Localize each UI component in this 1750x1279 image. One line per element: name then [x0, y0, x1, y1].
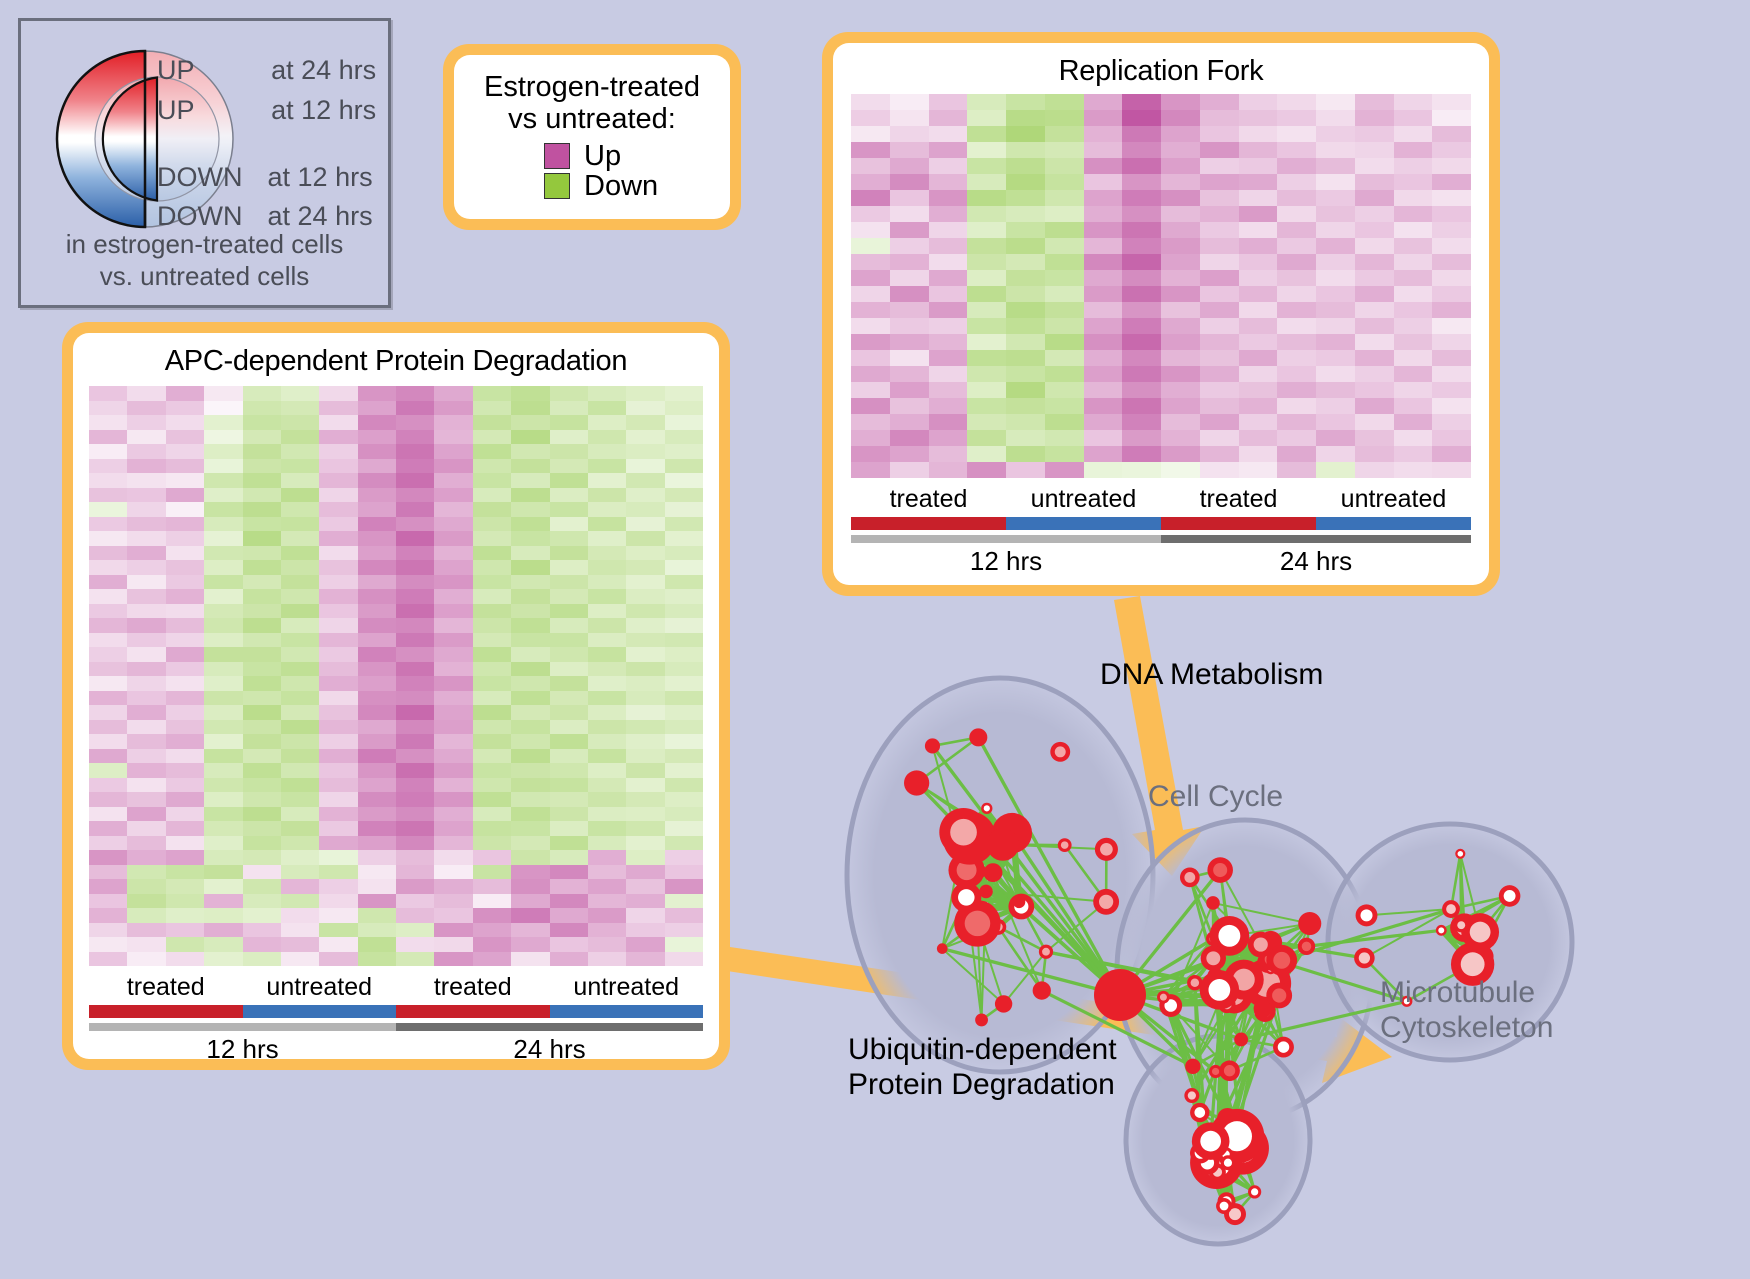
- apc-condition-bar-untreated-12: [243, 1005, 397, 1018]
- heatmap-cell: [588, 415, 626, 430]
- heatmap-cell: [434, 937, 472, 952]
- heatmap-cell: [1394, 238, 1433, 254]
- heatmap-cell: [588, 691, 626, 706]
- network-node[interactable]: [1200, 970, 1239, 1009]
- heatmap-cell: [1045, 206, 1084, 222]
- heatmap-cell: [550, 821, 588, 836]
- heatmap-cell: [929, 366, 968, 382]
- heatmap-cell: [319, 662, 357, 677]
- heatmap-cell: [89, 662, 127, 677]
- heatmap-cell: [243, 415, 281, 430]
- heatmap-cell: [1161, 206, 1200, 222]
- heatmap-cell: [166, 850, 204, 865]
- network-node[interactable]: [981, 803, 992, 814]
- heatmap-cell: [281, 430, 319, 445]
- heatmap-cell: [626, 386, 664, 401]
- heatmap-cell: [281, 618, 319, 633]
- heatmap-cell: [665, 836, 703, 851]
- heatmap-cell: [358, 705, 396, 720]
- network-node[interactable]: [1013, 896, 1025, 908]
- heatmap-cell: [626, 908, 664, 923]
- heatmap-cell: [166, 662, 204, 677]
- heatmap-cell: [1239, 350, 1278, 366]
- network-node[interactable]: [1499, 885, 1521, 907]
- network-node[interactable]: [1234, 1033, 1248, 1047]
- heatmap-cell: [396, 749, 434, 764]
- condition-label-0: treated: [851, 485, 1006, 514]
- heatmap-cell: [1200, 382, 1239, 398]
- heatmap-cell: [1006, 190, 1045, 206]
- network-node[interactable]: [969, 728, 987, 746]
- heatmap-cell: [588, 705, 626, 720]
- heatmap-cell: [1316, 174, 1355, 190]
- heatmap-cell: [127, 430, 165, 445]
- key-dir-down-12: DOWN: [157, 162, 242, 192]
- legend-item-down: Down: [544, 172, 718, 201]
- heatmap-cell: [626, 778, 664, 793]
- heatmap-cell: [967, 206, 1006, 222]
- figure-canvas: UP at 24 hrs UP at 12 hrs DOWN at 12 hrs…: [0, 0, 1750, 1279]
- heatmap-cell: [1200, 206, 1239, 222]
- heatmap-cell: [1045, 222, 1084, 238]
- heatmap-cell: [588, 923, 626, 938]
- heatmap-cell: [1045, 366, 1084, 382]
- network-node[interactable]: [1033, 981, 1051, 999]
- heatmap-cell: [1200, 286, 1239, 302]
- heatmap-cell: [473, 473, 511, 488]
- node-inner-fill: [1042, 948, 1050, 956]
- network-node[interactable]: [1248, 1185, 1261, 1198]
- heatmap-cell: [434, 836, 472, 851]
- node-outer-ring: [925, 738, 940, 753]
- heatmap-cell: [1394, 270, 1433, 286]
- heatmap-cell: [204, 473, 242, 488]
- heatmap-cell: [1394, 414, 1433, 430]
- heatmap-cell: [473, 734, 511, 749]
- heatmap-cell: [396, 952, 434, 967]
- network-node[interactable]: [1273, 1037, 1294, 1058]
- heatmap-cell: [1316, 190, 1355, 206]
- replication-fork-condition-bar: [851, 517, 1471, 530]
- heatmap-cell: [204, 705, 242, 720]
- heatmap-cell: [89, 488, 127, 503]
- network-node[interactable]: [1185, 1059, 1200, 1074]
- node-outer-ring: [1206, 896, 1220, 910]
- heatmap-cell: [89, 386, 127, 401]
- heatmap-cell: [851, 110, 890, 126]
- heatmap-cell: [319, 560, 357, 575]
- heatmap-cell: [1316, 110, 1355, 126]
- heatmap-cell: [665, 502, 703, 517]
- heatmap-cell: [1045, 158, 1084, 174]
- heatmap-cell: [1084, 174, 1123, 190]
- heatmap-cell: [1355, 254, 1394, 270]
- heatmap-cell: [1161, 158, 1200, 174]
- heatmap-cell: [434, 923, 472, 938]
- down-swatch-icon: [544, 173, 570, 199]
- heatmap-cell: [665, 589, 703, 604]
- heatmap-cell: [396, 473, 434, 488]
- heatmap-cell: [511, 662, 549, 677]
- heatmap-cell: [890, 446, 929, 462]
- heatmap-cell: [1239, 302, 1278, 318]
- heatmap-cell: [1122, 286, 1161, 302]
- heatmap-cell: [626, 937, 664, 952]
- heatmap-cell: [1006, 366, 1045, 382]
- heatmap-cell: [890, 158, 929, 174]
- heatmap-cell: [1045, 110, 1084, 126]
- heatmap-cell: [243, 705, 281, 720]
- heatmap-cell: [204, 734, 242, 749]
- network-node[interactable]: [1192, 1122, 1230, 1160]
- heatmap-cell: [243, 589, 281, 604]
- heatmap-cell: [396, 792, 434, 807]
- heatmap-cell: [550, 836, 588, 851]
- node-outer-ring: [1234, 1033, 1248, 1047]
- heatmap-cell: [1045, 318, 1084, 334]
- heatmap-cell: [929, 286, 968, 302]
- heatmap-cell: [396, 546, 434, 561]
- heatmap-cell: [1432, 190, 1471, 206]
- heatmap-cell: [1161, 302, 1200, 318]
- heatmap-cell: [550, 908, 588, 923]
- heatmap-cell: [967, 174, 1006, 190]
- key-row-up-12: UP at 12 hrs: [157, 95, 376, 126]
- heatmap-cell: [626, 952, 664, 967]
- key-dir-down-24: DOWN: [157, 201, 242, 231]
- heatmap-cell: [204, 633, 242, 648]
- heatmap-cell: [1277, 382, 1316, 398]
- heatmap-cell: [511, 589, 549, 604]
- heatmap-cell: [89, 952, 127, 967]
- heatmap-cell: [434, 778, 472, 793]
- heatmap-cell: [1432, 286, 1471, 302]
- heatmap-cell: [588, 517, 626, 532]
- heatmap-cell: [1394, 142, 1433, 158]
- heatmap-cell: [281, 923, 319, 938]
- heatmap-cell: [319, 473, 357, 488]
- heatmap-cell: [243, 560, 281, 575]
- heatmap-cell: [665, 850, 703, 865]
- heatmap-cell: [204, 459, 242, 474]
- heatmap-cell: [127, 575, 165, 590]
- heatmap-cell: [1432, 382, 1471, 398]
- network-node[interactable]: [1093, 889, 1119, 915]
- heatmap-cell: [434, 952, 472, 967]
- heatmap-cell: [281, 473, 319, 488]
- network-node[interactable]: [984, 863, 1003, 882]
- heatmap-cell: [434, 386, 472, 401]
- heatmap-cell: [511, 937, 549, 952]
- network-node[interactable]: [925, 738, 940, 753]
- heatmap-cell: [434, 560, 472, 575]
- network-node[interactable]: [1356, 904, 1378, 926]
- heatmap-cell: [358, 473, 396, 488]
- heatmap-cell: [1006, 398, 1045, 414]
- heatmap-cell: [1355, 446, 1394, 462]
- heatmap-cell: [319, 778, 357, 793]
- heatmap-cell: [1277, 110, 1316, 126]
- heatmap-cell: [1316, 238, 1355, 254]
- heatmap-cell: [166, 937, 204, 952]
- heatmap-cell: [166, 734, 204, 749]
- network-node[interactable]: [995, 995, 1012, 1012]
- heatmap-cell: [929, 222, 968, 238]
- node-outer-ring: [975, 1013, 988, 1026]
- heatmap-cell: [166, 894, 204, 909]
- heatmap-cell: [1239, 174, 1278, 190]
- heatmap-cell: [281, 807, 319, 822]
- heatmap-cell: [473, 850, 511, 865]
- heatmap-cell: [396, 560, 434, 575]
- network-node[interactable]: [1206, 896, 1220, 910]
- heatmap-cell: [665, 865, 703, 880]
- heatmap-cell: [1316, 286, 1355, 302]
- heatmap-cell: [127, 850, 165, 865]
- heatmap-cell: [243, 865, 281, 880]
- heatmap-cell: [358, 879, 396, 894]
- heatmap-cell: [89, 734, 127, 749]
- heatmap-cell: [204, 720, 242, 735]
- heatmap-cell: [1200, 414, 1239, 430]
- heatmap-cell: [1355, 318, 1394, 334]
- heatmap-cell: [890, 318, 929, 334]
- heatmap-cell: [511, 894, 549, 909]
- heatmap-cell: [626, 401, 664, 416]
- heatmap-cell: [166, 923, 204, 938]
- heatmap-cell: [1277, 238, 1316, 254]
- heatmap-cell: [1122, 446, 1161, 462]
- heatmap-cell: [1239, 366, 1278, 382]
- heatmap-cell: [665, 517, 703, 532]
- network-node[interactable]: [939, 808, 987, 856]
- heatmap-cell: [1084, 430, 1123, 446]
- heatmap-cell: [204, 792, 242, 807]
- heatmap-cell: [243, 807, 281, 822]
- network-node[interactable]: [1207, 857, 1233, 883]
- heatmap-cell: [127, 473, 165, 488]
- node-outer-ring: [904, 770, 929, 795]
- heatmap-cell: [319, 952, 357, 967]
- heatmap-cell: [473, 546, 511, 561]
- heatmap-cell: [1432, 238, 1471, 254]
- heatmap-cell: [1161, 430, 1200, 446]
- heatmap-cell: [358, 386, 396, 401]
- heatmap-cell: [1200, 174, 1239, 190]
- heatmap-cell: [166, 879, 204, 894]
- heatmap-cell: [127, 546, 165, 561]
- apc-degradation-panel: APC-dependent Protein Degradation treate…: [62, 322, 730, 1070]
- network-node[interactable]: [1298, 912, 1321, 935]
- heatmap-cell: [358, 952, 396, 967]
- heatmap-cell: [626, 734, 664, 749]
- network-node[interactable]: [904, 770, 929, 795]
- network-node[interactable]: [1354, 948, 1375, 969]
- network-node[interactable]: [937, 943, 948, 954]
- heatmap-cell: [434, 807, 472, 822]
- heatmap-cell: [166, 763, 204, 778]
- heatmap-cell: [319, 908, 357, 923]
- heatmap-cell: [166, 473, 204, 488]
- heatmap-cell: [1161, 414, 1200, 430]
- heatmap-cell: [1316, 206, 1355, 222]
- network-node[interactable]: [1455, 849, 1465, 859]
- heatmap-cell: [1316, 430, 1355, 446]
- network-node[interactable]: [1298, 938, 1315, 955]
- heatmap-cell: [358, 908, 396, 923]
- heatmap-cell: [588, 401, 626, 416]
- network-node[interactable]: [1190, 1103, 1209, 1122]
- heatmap-cell: [1355, 382, 1394, 398]
- heatmap-cell: [1122, 222, 1161, 238]
- heatmap-cell: [511, 575, 549, 590]
- heatmap-cell: [967, 270, 1006, 286]
- heatmap-cell: [243, 749, 281, 764]
- network-node[interactable]: [1436, 925, 1447, 936]
- network-node[interactable]: [1094, 969, 1146, 1021]
- network-node[interactable]: [951, 882, 981, 912]
- heatmap-cell: [396, 662, 434, 677]
- heatmap-cell: [967, 190, 1006, 206]
- heatmap-cell: [89, 633, 127, 648]
- heatmap-cell: [511, 676, 549, 691]
- heatmap-cell: [1122, 350, 1161, 366]
- heatmap-cell: [511, 952, 549, 967]
- network-node[interactable]: [1266, 983, 1292, 1009]
- heatmap-cell: [89, 705, 127, 720]
- heatmap-cell: [1161, 110, 1200, 126]
- heatmap-cell: [473, 908, 511, 923]
- heatmap-cell: [1277, 158, 1316, 174]
- node-inner-fill: [1191, 978, 1200, 987]
- heatmap-cell: [243, 401, 281, 416]
- heatmap-cell: [434, 865, 472, 880]
- heatmap-cell: [967, 414, 1006, 430]
- heatmap-cell: [511, 792, 549, 807]
- network-node[interactable]: [987, 828, 1020, 861]
- network-node[interactable]: [1248, 932, 1274, 958]
- heatmap-cell: [358, 604, 396, 619]
- heatmap-cell: [281, 836, 319, 851]
- heatmap-cell: [851, 206, 890, 222]
- heatmap-cell: [281, 763, 319, 778]
- network-node[interactable]: [1180, 868, 1200, 888]
- network-node[interactable]: [1461, 913, 1499, 951]
- heatmap-cell: [204, 662, 242, 677]
- heatmap-cell: [890, 174, 929, 190]
- heatmap-cell: [1316, 350, 1355, 366]
- heatmap-cell: [204, 923, 242, 938]
- network-node[interactable]: [1442, 900, 1460, 918]
- heatmap-cell: [626, 647, 664, 662]
- network-node[interactable]: [1095, 838, 1118, 861]
- heatmap-cell: [434, 488, 472, 503]
- time-label-12hrs: 12 hrs: [851, 546, 1161, 577]
- heatmap-cell: [1355, 190, 1394, 206]
- heatmap-cell: [665, 430, 703, 445]
- heatmap-cell: [473, 807, 511, 822]
- heatmap-cell: [1045, 302, 1084, 318]
- replication-fork-time-labels: 12 hrs 24 hrs: [851, 546, 1471, 577]
- network-node[interactable]: [1201, 946, 1226, 971]
- network-node[interactable]: [1184, 1088, 1199, 1103]
- heatmap-cell: [243, 604, 281, 619]
- heatmap-cell: [967, 462, 1006, 478]
- heatmap-cell: [550, 415, 588, 430]
- heatmap-cell: [358, 415, 396, 430]
- heatmap-cell: [204, 430, 242, 445]
- heatmap-cell: [1277, 462, 1316, 478]
- heatmap-cell: [626, 517, 664, 532]
- heatmap-cell: [1355, 414, 1394, 430]
- network-node[interactable]: [1050, 742, 1070, 762]
- apc-time-bar-24hrs: [396, 1023, 703, 1031]
- node-outer-ring: [1298, 912, 1321, 935]
- heatmap-cell: [204, 821, 242, 836]
- network-node[interactable]: [1454, 918, 1468, 932]
- heatmap-cell: [890, 414, 929, 430]
- network-node[interactable]: [975, 1013, 988, 1026]
- heatmap-cell: [1277, 318, 1316, 334]
- heatmap-cell: [550, 676, 588, 691]
- heatmap-cell: [967, 142, 1006, 158]
- heatmap-cell: [434, 662, 472, 677]
- heatmap-cell: [1239, 334, 1278, 350]
- heatmap-cell: [473, 488, 511, 503]
- network-node[interactable]: [1058, 838, 1072, 852]
- heatmap-cell: [473, 459, 511, 474]
- heatmap-cell: [588, 807, 626, 822]
- heatmap-cell: [204, 865, 242, 880]
- network-node[interactable]: [1039, 945, 1053, 959]
- heatmap-cell: [588, 749, 626, 764]
- apc-time-bar-12hrs: [89, 1023, 396, 1031]
- heatmap-cell: [1277, 414, 1316, 430]
- heatmap-cell: [204, 488, 242, 503]
- heatmap-cell: [588, 546, 626, 561]
- heatmap-cell: [1239, 446, 1278, 462]
- network-node[interactable]: [1157, 991, 1170, 1004]
- heatmap-cell: [358, 401, 396, 416]
- heatmap-cell: [204, 531, 242, 546]
- heatmap-cell: [281, 792, 319, 807]
- heatmap-cell: [434, 618, 472, 633]
- heatmap-cell: [1200, 142, 1239, 158]
- heatmap-cell: [166, 908, 204, 923]
- heatmap-cell: [511, 415, 549, 430]
- heatmap-cell: [1200, 126, 1239, 142]
- heatmap-cell: [1161, 334, 1200, 350]
- heatmap-cell: [243, 691, 281, 706]
- heatmap-cell: [967, 254, 1006, 270]
- network-node[interactable]: [1216, 1198, 1232, 1214]
- heatmap-cell: [89, 720, 127, 735]
- heatmap-cell: [396, 705, 434, 720]
- heatmap-cell: [511, 517, 549, 532]
- heatmap-cell: [929, 94, 968, 110]
- heatmap-cell: [967, 94, 1006, 110]
- heatmap-cell: [473, 502, 511, 517]
- heatmap-cell: [319, 749, 357, 764]
- network-node[interactable]: [1219, 1060, 1240, 1081]
- heatmap-cell: [1277, 174, 1316, 190]
- heatmap-cell: [626, 662, 664, 677]
- heatmap-cell: [1277, 286, 1316, 302]
- heatmap-cell: [550, 850, 588, 865]
- heatmap-cell: [1316, 318, 1355, 334]
- heatmap-cell: [1277, 126, 1316, 142]
- heatmap-cell: [1394, 94, 1433, 110]
